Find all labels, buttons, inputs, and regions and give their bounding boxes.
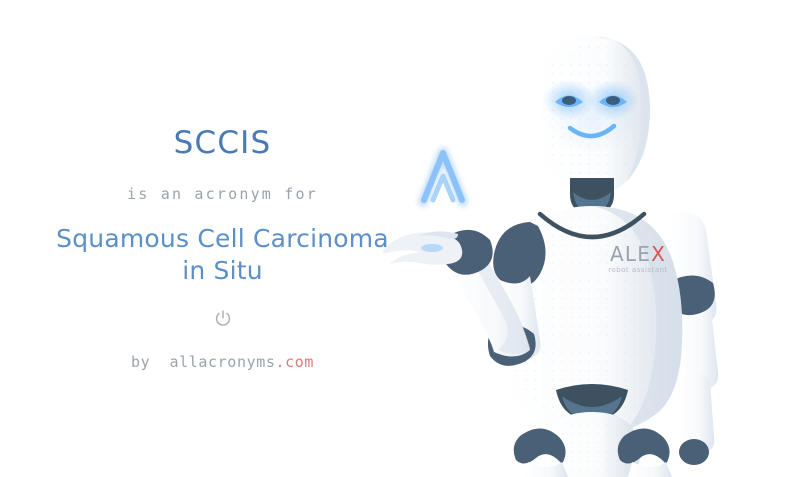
- acronym-definition-page: SCCIS is an acronym for Squamous Cell Ca…: [0, 0, 801, 477]
- acronym-expansion: Squamous Cell Carcinoma in Situ: [43, 203, 403, 287]
- chest-sublabel: robot assistant: [608, 266, 668, 274]
- chest-label: ALEX: [610, 242, 666, 266]
- robot-head: [534, 37, 650, 197]
- byline-prefix: by allacronyms: [131, 353, 275, 371]
- acronym-term: SCCIS: [174, 128, 272, 159]
- power-icon: [213, 309, 233, 329]
- acronym-connector-text: is an acronym for: [127, 159, 318, 203]
- power-icon-container: [0, 287, 445, 329]
- byline[interactable]: by allacronyms.com: [131, 329, 314, 371]
- byline-tld: .com: [275, 353, 314, 371]
- definition-text-block: SCCIS is an acronym for Squamous Cell Ca…: [0, 0, 445, 477]
